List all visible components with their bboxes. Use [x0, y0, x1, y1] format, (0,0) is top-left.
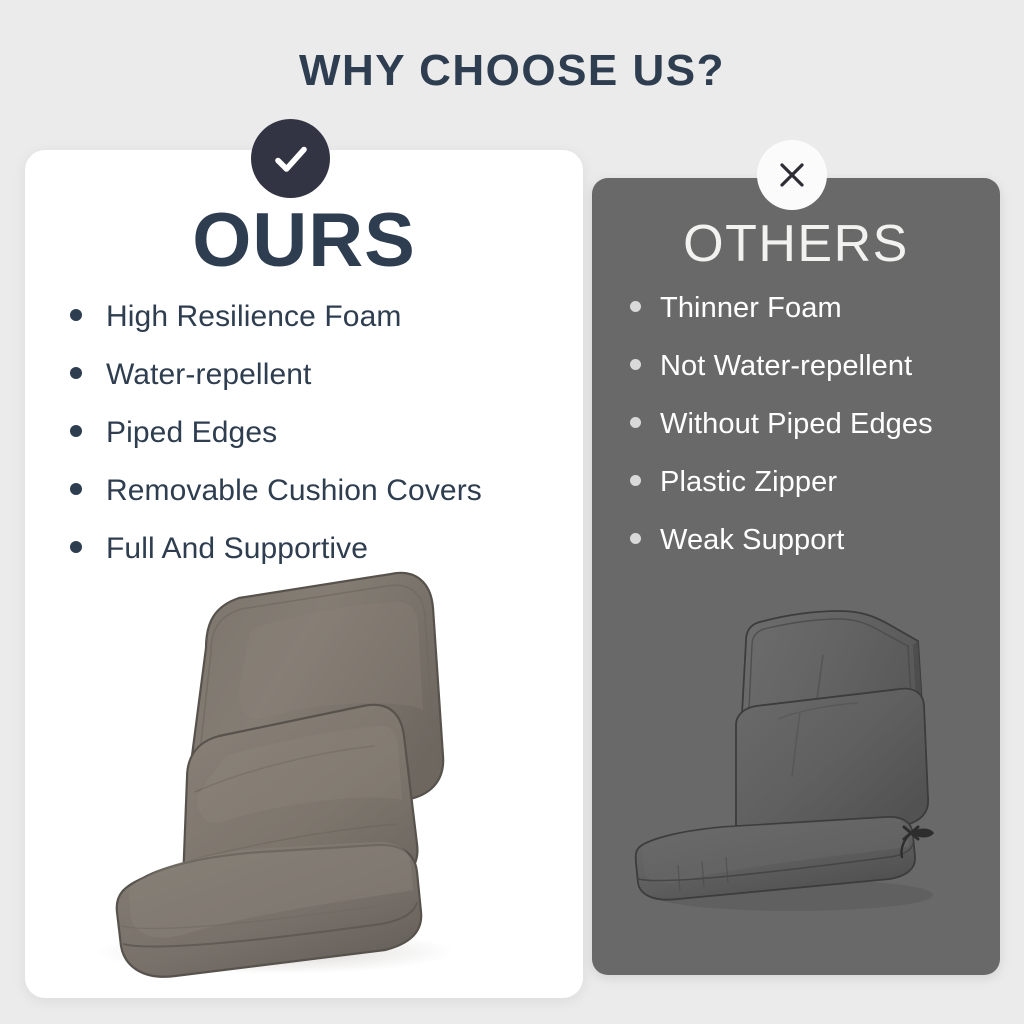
others-feature-list: Thinner Foam Not Water-repellent Without…	[630, 292, 1000, 582]
bullet-icon	[70, 483, 82, 495]
bullet-icon	[70, 309, 82, 321]
feature-label: Thinner Foam	[660, 292, 842, 325]
page-title: WHY CHOOSE US?	[0, 47, 1024, 95]
bullet-icon	[630, 301, 641, 312]
list-item: Piped Edges	[70, 416, 570, 474]
list-item: Full And Supportive	[70, 532, 570, 590]
bullet-icon	[70, 367, 82, 379]
bullet-icon	[630, 475, 641, 486]
feature-label: High Resilience Foam	[106, 300, 401, 334]
others-heading: OTHERS	[592, 218, 1000, 270]
bullet-icon	[630, 533, 641, 544]
feature-label: Plastic Zipper	[660, 466, 837, 499]
list-item: Thinner Foam	[630, 292, 1000, 350]
ours-feature-list: High Resilience Foam Water-repellent Pip…	[70, 300, 570, 590]
bullet-icon	[70, 425, 82, 437]
list-item: Plastic Zipper	[630, 466, 1000, 524]
feature-label: Full And Supportive	[106, 532, 368, 566]
comparison-infographic: WHY CHOOSE US?	[0, 0, 1024, 1024]
close-icon	[776, 159, 808, 191]
list-item: Weak Support	[630, 524, 1000, 582]
cross-badge	[757, 140, 827, 210]
bullet-icon	[630, 417, 641, 428]
others-product-image	[618, 595, 968, 935]
feature-label: Piped Edges	[106, 416, 277, 450]
bullet-icon	[630, 359, 641, 370]
list-item: Water-repellent	[70, 358, 570, 416]
feature-label: Water-repellent	[106, 358, 311, 392]
feature-label: Removable Cushion Covers	[106, 474, 482, 508]
list-item: Without Piped Edges	[630, 408, 1000, 466]
list-item: Removable Cushion Covers	[70, 474, 570, 532]
list-item: Not Water-repellent	[630, 350, 1000, 408]
bullet-icon	[70, 541, 82, 553]
feature-label: Not Water-repellent	[660, 350, 912, 383]
check-icon	[269, 137, 313, 181]
ours-product-image	[25, 560, 525, 990]
feature-label: Without Piped Edges	[660, 408, 933, 441]
list-item: High Resilience Foam	[70, 300, 570, 358]
ours-heading: OURS	[25, 203, 583, 279]
feature-label: Weak Support	[660, 524, 844, 557]
check-badge	[251, 119, 330, 198]
